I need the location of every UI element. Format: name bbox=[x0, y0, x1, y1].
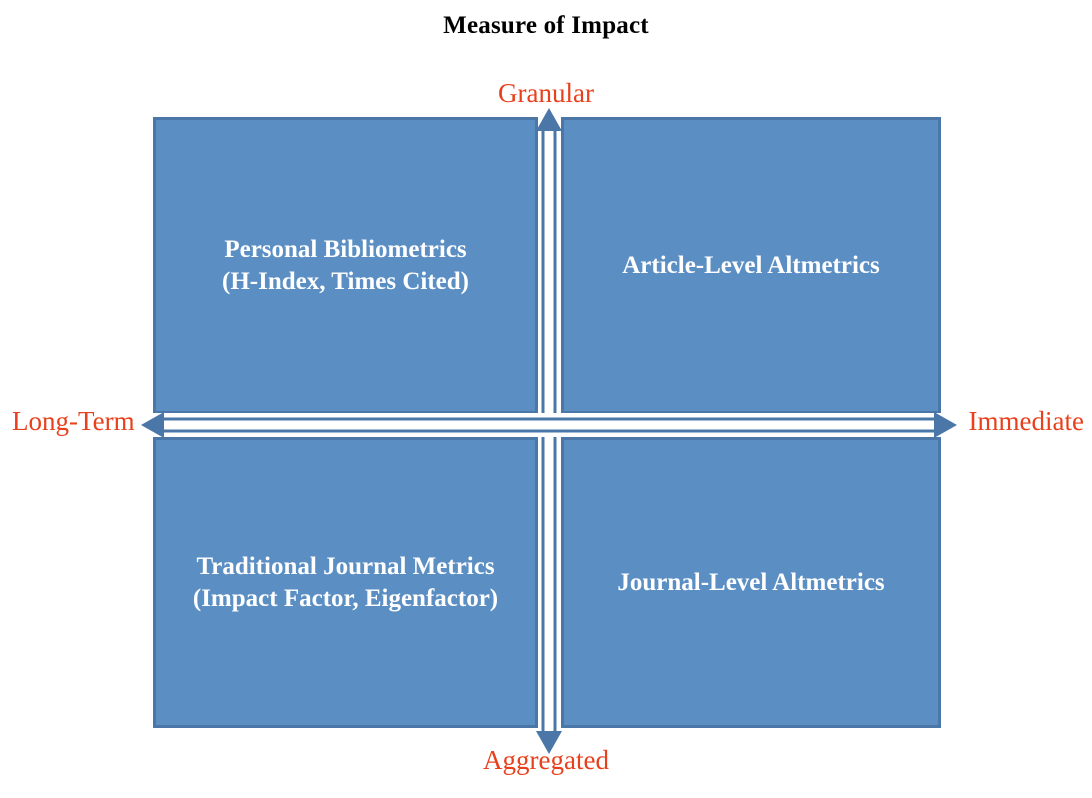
quadrant-bottom-right-label: Journal-Level Altmetrics bbox=[617, 567, 884, 599]
horizontal-axis-arrow bbox=[141, 412, 957, 438]
arrow-right-icon bbox=[934, 412, 957, 438]
quadrant-bottom-right[interactable]: Journal-Level Altmetrics bbox=[561, 437, 941, 728]
vertical-axis-band bbox=[538, 110, 560, 750]
quadrant-bottom-left-sublabel: (Impact Factor, Eigenfactor) bbox=[193, 583, 498, 615]
quadrant-top-right-label: Article-Level Altmetrics bbox=[622, 250, 880, 282]
quadrant-top-left-sublabel: (H-Index, Times Cited) bbox=[222, 266, 469, 298]
horizontal-axis-band bbox=[145, 413, 950, 437]
quadrant-top-right[interactable]: Article-Level Altmetrics bbox=[561, 117, 941, 414]
axis-label-immediate: Immediate bbox=[969, 406, 1084, 437]
quadrant-bottom-left-label: Traditional Journal Metrics bbox=[193, 551, 498, 583]
axis-label-granular: Granular bbox=[0, 78, 1092, 109]
arrow-left-icon bbox=[141, 412, 164, 438]
quadrant-top-left[interactable]: Personal Bibliometrics (H-Index, Times C… bbox=[153, 117, 538, 414]
quadrant-top-left-label: Personal Bibliometrics bbox=[222, 234, 469, 266]
page-title: Measure of Impact bbox=[0, 12, 1092, 40]
axis-label-aggregated: Aggregated bbox=[0, 745, 1092, 776]
quadrant-diagram: Measure of Impact Personal Bibliometrics… bbox=[0, 0, 1092, 798]
arrow-up-icon bbox=[536, 108, 562, 131]
axis-label-long-term: Long-Term bbox=[12, 406, 135, 437]
vertical-axis-arrow bbox=[536, 108, 562, 754]
quadrant-bottom-left[interactable]: Traditional Journal Metrics (Impact Fact… bbox=[153, 437, 538, 728]
